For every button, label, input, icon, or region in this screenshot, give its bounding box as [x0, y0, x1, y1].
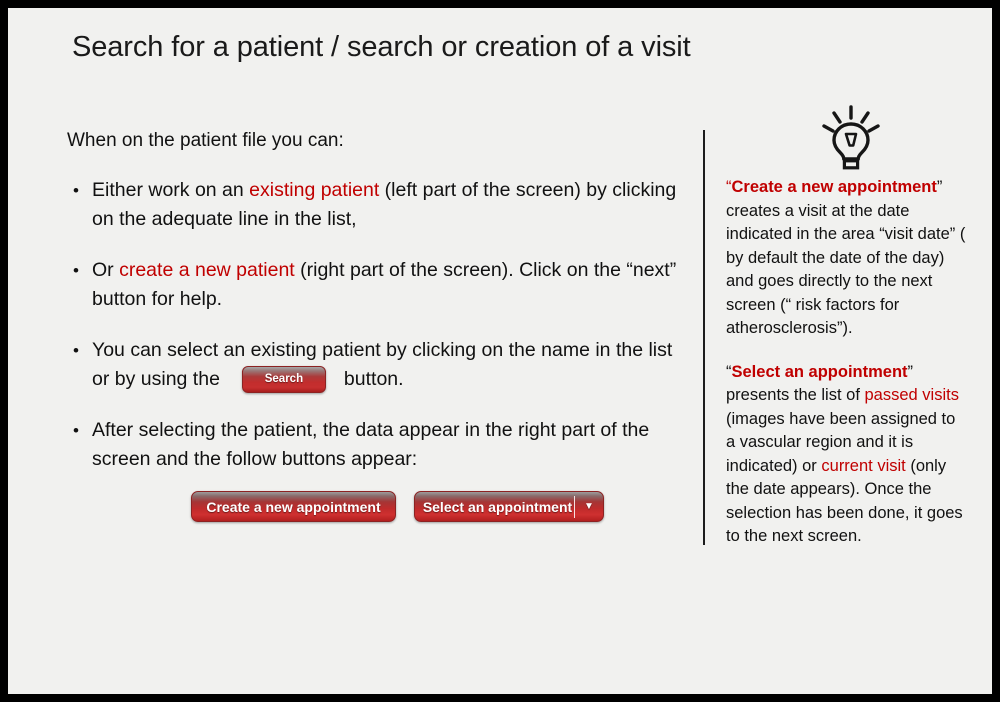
tip2-highlight-passed-visits: passed visits [865, 386, 959, 404]
page-title: Search for a patient / search or creatio… [72, 28, 772, 66]
appointment-buttons-row: Create a new appointment Select an appoi… [191, 491, 604, 522]
tip2-bold-label: Select an appointment [732, 363, 908, 381]
bullet-text: After selecting the patient, the data ap… [92, 419, 649, 470]
tip1-bold-label: Create a new appointment [732, 178, 937, 196]
column-divider [703, 130, 705, 545]
select-appointment-label: Select an appointment [415, 499, 574, 515]
create-new-appointment-button[interactable]: Create a new appointment [191, 491, 396, 522]
tip1-close-quote: ” [937, 178, 943, 196]
text-before-search-button: or by using the [92, 365, 220, 394]
left-content-column: When on the patient file you can: • Eith… [60, 128, 700, 474]
tip2-close-quote: ” [908, 363, 914, 381]
tip-create-appointment: “Create a new appointment” creates a vis… [726, 176, 968, 341]
tips-column: “Create a new appointment” creates a vis… [726, 176, 968, 549]
intro-text: When on the patient file you can: [67, 128, 700, 154]
slide-canvas: Search for a patient / search or creatio… [8, 8, 992, 694]
bullet-text-part1: Either work on an [92, 179, 249, 201]
bullet-dot-icon: • [73, 256, 79, 285]
bullet-text-line1: You can select an existing patient by cl… [92, 339, 672, 361]
bullet-dot-icon: • [73, 416, 79, 445]
bullet-item-select-patient: • You can select an existing patient by … [60, 336, 700, 394]
bullet-item-after-selection: • After selecting the patient, the data … [60, 416, 700, 474]
bullet-dot-icon: • [73, 336, 79, 365]
slide-frame: Search for a patient / search or creatio… [0, 0, 1000, 702]
highlight-existing-patient: existing patient [249, 179, 379, 201]
search-button[interactable]: Search [242, 366, 326, 393]
text-after-search-button: button. [344, 365, 404, 394]
tip2-highlight-current-visit: current visit [821, 457, 905, 475]
select-appointment-button[interactable]: Select an appointment ▼ [414, 491, 604, 522]
search-button-inline-row: or by using the Search button. [92, 365, 700, 394]
instruction-bullet-list: • Either work on an existing patient (le… [60, 176, 700, 474]
highlight-create-new-patient: create a new patient [119, 259, 295, 281]
tip-select-appointment: “Select an appointment” presents the lis… [726, 361, 968, 549]
tip2-seg1: presents the list of [726, 386, 865, 404]
bullet-text-part1: Or [92, 259, 119, 281]
lightbulb-icon [820, 104, 882, 170]
bullet-dot-icon: • [73, 176, 79, 205]
bullet-item-create-patient: • Or create a new patient (right part of… [60, 256, 700, 314]
bullet-item-existing-patient: • Either work on an existing patient (le… [60, 176, 700, 234]
tip1-body: creates a visit at the date indicated in… [726, 202, 965, 338]
chevron-down-icon[interactable]: ▼ [575, 502, 603, 512]
